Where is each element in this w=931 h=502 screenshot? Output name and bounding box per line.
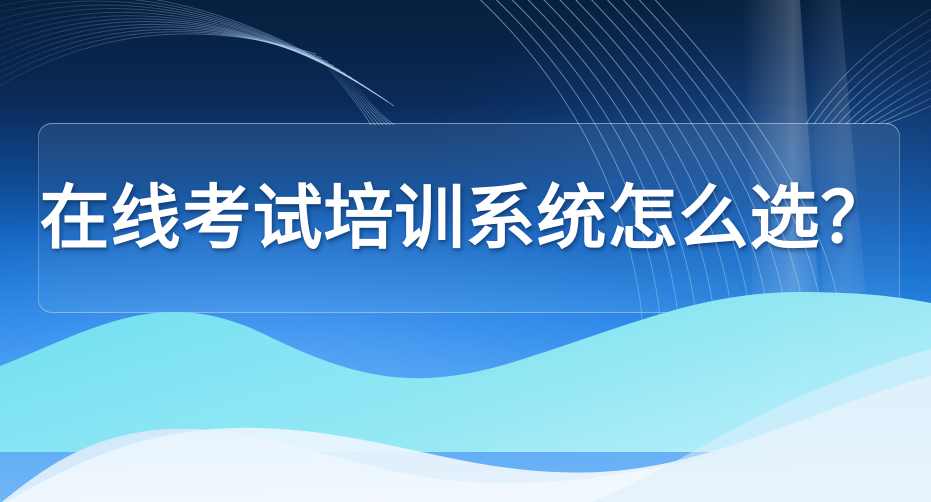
promo-banner: 在线考试培训系统怎么选？ (0, 0, 931, 502)
headline-container: 在线考试培训系统怎么选？ (0, 123, 931, 313)
page-title: 在线考试培训系统怎么选？ (40, 183, 892, 253)
